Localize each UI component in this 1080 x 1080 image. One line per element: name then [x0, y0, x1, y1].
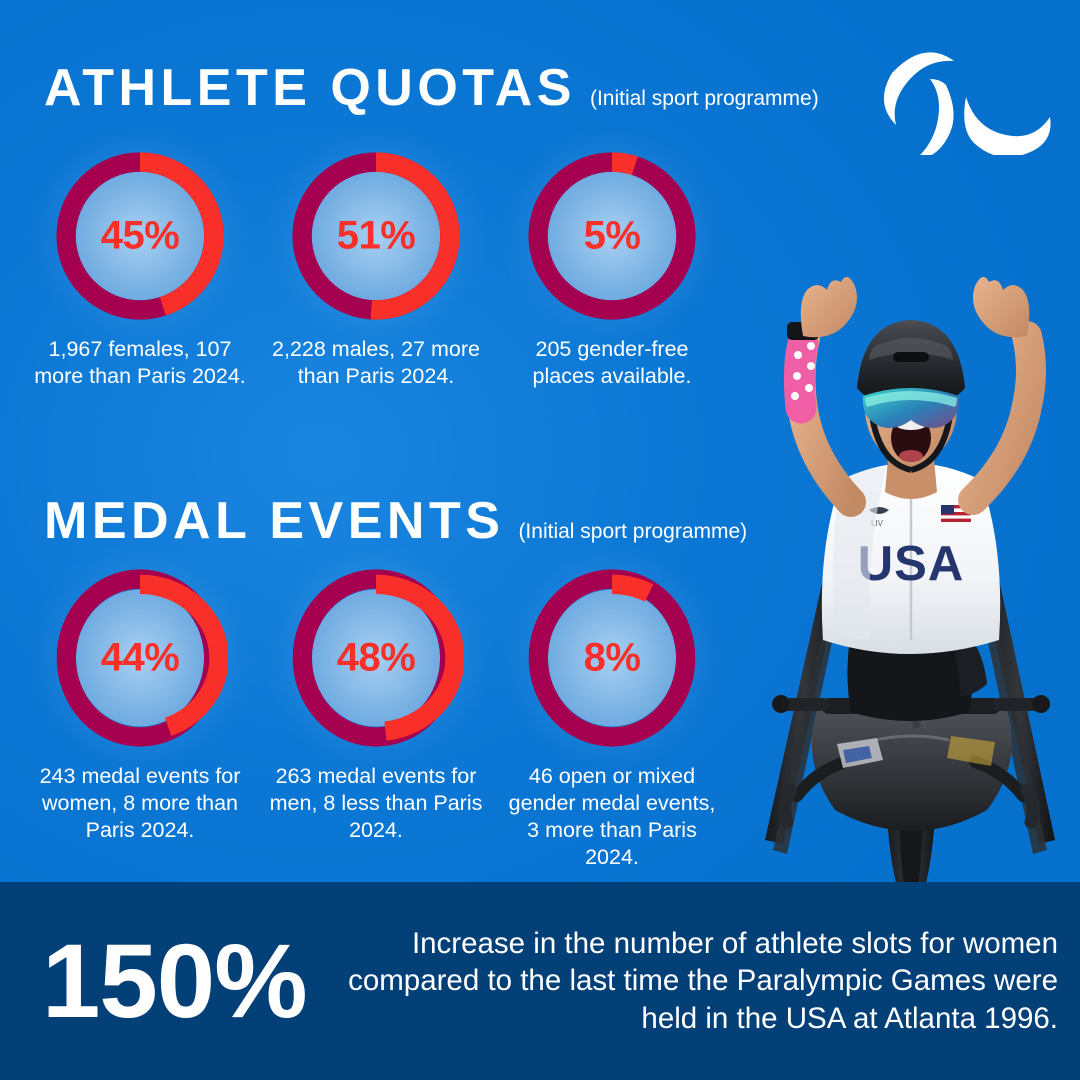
stat-caption: 205 gender-free places available.	[505, 336, 720, 390]
donut-svg	[288, 148, 464, 324]
stat-caption: 2,228 males, 27 more than Paris 2024.	[269, 336, 484, 390]
stat-cell-open-mixed-events: 8% 46 open or mixed gender medal events,…	[494, 565, 730, 871]
donut-chart-men-events: 48%	[288, 565, 464, 751]
section-title: ATHLETE QUOTAS	[44, 62, 576, 114]
donut-chart-males: 51%	[288, 148, 464, 324]
donut-svg	[52, 565, 228, 751]
donut-chart-females: 45%	[52, 148, 228, 324]
stat-cell-males: 51% 2,228 males, 27 more than Paris 2024…	[258, 148, 494, 390]
stat-caption: 1,967 females, 107 more than Paris 2024.	[33, 336, 248, 390]
stat-cell-gender-free: 5% 205 gender-free places available.	[494, 148, 730, 390]
svg-text:USA: USA	[858, 537, 964, 591]
stat-cell-men-events: 48% 263 medal events for men, 8 less tha…	[258, 565, 494, 871]
paralympic-agitos-logo	[880, 45, 1060, 155]
donut-svg	[288, 565, 464, 751]
infographic-canvas: USA LIV	[0, 0, 1080, 1080]
stat-caption: 243 medal events for women, 8 more than …	[33, 763, 248, 844]
donut-svg	[524, 565, 700, 751]
donut-svg	[524, 148, 700, 324]
section-title: MEDAL EVENTS	[44, 495, 504, 547]
section-subtitle: (Initial sport programme)	[590, 88, 819, 112]
bottom-stat-banner: 150% Increase in the number of athlete s…	[0, 882, 1080, 1080]
stat-cell-females: 45% 1,967 females, 107 more than Paris 2…	[22, 148, 258, 390]
donut-chart-gender-free: 5%	[524, 148, 700, 324]
donut-chart-open-mixed-events: 8%	[524, 565, 700, 751]
donut-row-medal-events: 44% 243 medal events for women, 8 more t…	[22, 565, 762, 871]
banner-description: Increase in the number of athlete slots …	[330, 925, 1080, 1036]
stat-caption: 46 open or mixed gender medal events, 3 …	[505, 763, 720, 871]
donut-chart-women-events: 44%	[52, 565, 228, 751]
banner-percentage: 150%	[0, 929, 330, 1034]
para-cyclist-usa-celebrating-photo: USA LIV	[725, 150, 1080, 890]
donut-row-athlete-quotas: 45% 1,967 females, 107 more than Paris 2…	[22, 148, 762, 390]
section-subtitle: (Initial sport programme)	[518, 521, 747, 545]
section-heading-athlete-quotas: ATHLETE QUOTAS (Initial sport programme)	[44, 62, 819, 114]
stat-caption: 263 medal events for men, 8 less than Pa…	[269, 763, 484, 844]
stat-cell-women-events: 44% 243 medal events for women, 8 more t…	[22, 565, 258, 871]
donut-svg	[52, 148, 228, 324]
section-heading-medal-events: MEDAL EVENTS (Initial sport programme)	[44, 495, 747, 547]
